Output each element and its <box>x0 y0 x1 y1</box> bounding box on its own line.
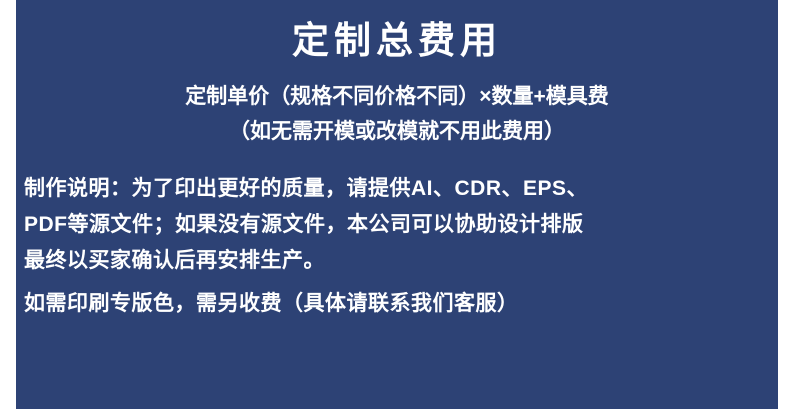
production-notes: 制作说明：为了印出更好的质量，请提供AI、CDR、EPS、 PDF等源文件；如果… <box>16 171 778 321</box>
production-note-line-4: 如需印刷专版色，需另收费（具体请联系我们客服） <box>24 286 772 322</box>
pricing-formula: 定制单价（规格不同价格不同）×数量+模具费 （如无需开模或改模就不用此费用） <box>16 80 778 149</box>
production-note-line-1: 制作说明：为了印出更好的质量，请提供AI、CDR、EPS、 <box>24 171 772 207</box>
production-note-line-3: 最终以买家确认后再安排生产。 <box>24 243 772 279</box>
pricing-formula-line-2: （如无需开模或改模就不用此费用） <box>16 115 778 150</box>
production-note-line-2: PDF等源文件；如果没有源文件，本公司可以协助设计排版 <box>24 207 772 243</box>
promo-banner: 定制总费用 定制单价（规格不同价格不同）×数量+模具费 （如无需开模或改模就不用… <box>0 0 790 409</box>
left-margin-strip <box>0 0 16 409</box>
pricing-formula-line-1: 定制单价（规格不同价格不同）×数量+模具费 <box>16 80 778 115</box>
banner-content: 定制总费用 定制单价（规格不同价格不同）×数量+模具费 （如无需开模或改模就不用… <box>16 0 778 409</box>
page-title: 定制总费用 <box>16 16 778 66</box>
right-margin-strip <box>778 0 790 409</box>
